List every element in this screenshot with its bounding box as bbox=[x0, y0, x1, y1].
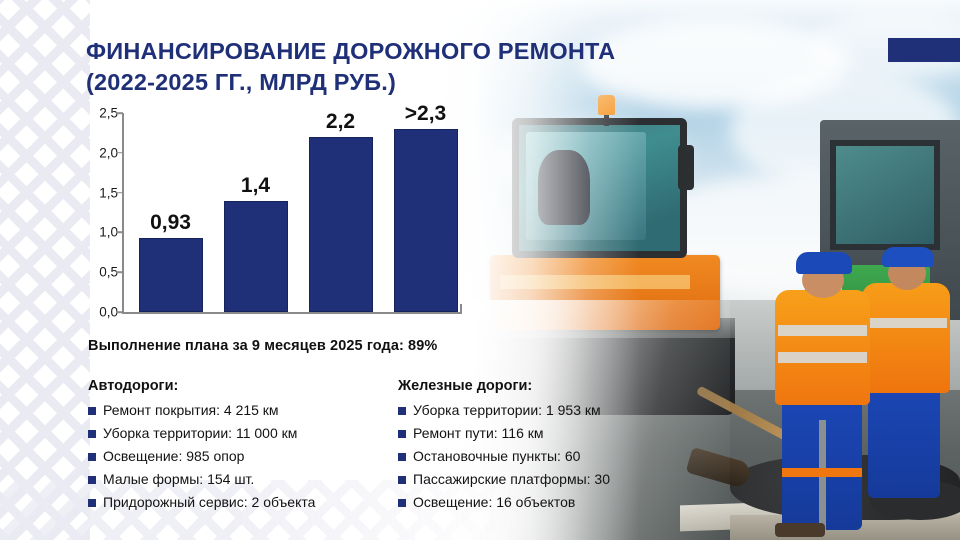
bullet-square-icon bbox=[88, 430, 96, 438]
bar-value-label: 1,4 bbox=[241, 174, 270, 198]
list-item: Придорожный сервис: 2 объекта bbox=[88, 493, 388, 513]
vest-reflective-stripe bbox=[778, 325, 867, 336]
vest-reflective-stripe bbox=[778, 352, 867, 363]
bullet-square-icon bbox=[398, 453, 406, 461]
list-item-label: Ремонт покрытия: 4 215 км bbox=[103, 401, 279, 421]
funding-bar-chart: 0,00,51,01,52,02,5 0,931,42,2>2,3 bbox=[78, 104, 478, 329]
section-roads: Автодороги: Ремонт покрытия: 4 215 кмУбо… bbox=[88, 378, 388, 516]
bar-value-label: 0,93 bbox=[150, 211, 191, 235]
list-item: Ремонт покрытия: 4 215 км bbox=[88, 401, 388, 421]
worker-hivis-vest bbox=[775, 290, 870, 405]
list-item: Остановочные пункты: 60 bbox=[398, 447, 698, 467]
bar bbox=[224, 201, 288, 312]
section-railways-list: Уборка территории: 1 953 кмРемонт пути: … bbox=[398, 401, 698, 513]
list-item: Ремонт пути: 116 км bbox=[398, 424, 698, 444]
worker-boot bbox=[775, 523, 825, 537]
y-axis-labels: 0,00,51,01,52,02,5 bbox=[78, 104, 118, 329]
paver-cabin bbox=[830, 140, 940, 250]
section-railways: Железные дороги: Уборка территории: 1 95… bbox=[398, 378, 698, 516]
list-item: Уборка территории: 11 000 км bbox=[88, 424, 388, 444]
list-item-label: Остановочные пункты: 60 bbox=[413, 447, 580, 467]
list-item-label: Придорожный сервис: 2 объекта bbox=[103, 493, 315, 513]
bar-series: 0,931,42,2>2,3 bbox=[122, 113, 462, 312]
bullet-square-icon bbox=[398, 407, 406, 415]
accent-bar bbox=[888, 38, 960, 62]
roller-mirror bbox=[678, 145, 694, 190]
y-axis-tick bbox=[116, 112, 123, 114]
worker-legs bbox=[868, 388, 940, 498]
section-railways-heading: Железные дороги: bbox=[398, 378, 698, 394]
list-item: Пассажирские платформы: 30 bbox=[398, 470, 698, 490]
section-roads-list: Ремонт покрытия: 4 215 кмУборка территор… bbox=[88, 401, 388, 513]
list-item: Уборка территории: 1 953 км bbox=[398, 401, 698, 421]
list-item-label: Уборка территории: 1 953 км bbox=[413, 401, 601, 421]
y-axis-tick bbox=[116, 232, 123, 234]
bullet-square-icon bbox=[88, 407, 96, 415]
belarusian-ornament-pattern bbox=[0, 0, 90, 540]
list-item: Освещение: 985 опор bbox=[88, 447, 388, 467]
worker-cap bbox=[796, 252, 852, 274]
slide-root: ФИНАНСИРОВАНИЕ ДОРОЖНОГО РЕМОНТА (2022-2… bbox=[0, 0, 960, 540]
y-axis-tick bbox=[116, 152, 123, 154]
list-item: Малые формы: 154 шт. bbox=[88, 470, 388, 490]
section-roads-heading: Автодороги: bbox=[88, 378, 388, 394]
list-item-label: Освещение: 985 опор bbox=[103, 447, 244, 467]
vest-reflective-stripe bbox=[865, 318, 947, 328]
y-axis-tick bbox=[116, 311, 123, 313]
x-axis-line bbox=[122, 312, 462, 314]
bullet-square-icon bbox=[398, 430, 406, 438]
bar-value-label: 2,2 bbox=[326, 110, 355, 134]
page-title: ФИНАНСИРОВАНИЕ ДОРОЖНОГО РЕМОНТА (2022-2… bbox=[86, 36, 686, 98]
bullet-square-icon bbox=[398, 499, 406, 507]
plan-completion-text: Выполнение плана за 9 месяцев 2025 года:… bbox=[88, 338, 437, 354]
bar bbox=[394, 129, 458, 312]
list-item: Освещение: 16 объектов bbox=[398, 493, 698, 513]
bullet-square-icon bbox=[398, 476, 406, 484]
bar bbox=[309, 137, 373, 312]
list-item-label: Пассажирские платформы: 30 bbox=[413, 470, 610, 490]
y-axis-tick bbox=[116, 192, 123, 194]
list-item-label: Уборка территории: 11 000 км bbox=[103, 424, 297, 444]
bar bbox=[139, 238, 203, 312]
worker-cap bbox=[882, 247, 934, 267]
trouser-reflective-stripe bbox=[782, 468, 862, 477]
bullet-square-icon bbox=[88, 453, 96, 461]
worker-hivis-vest bbox=[862, 283, 950, 393]
list-item-label: Ремонт пути: 116 км bbox=[413, 424, 544, 444]
page-title-line-2: (2022-2025 ГГ., МЛРД РУБ.) bbox=[86, 67, 686, 98]
y-axis-tick bbox=[116, 271, 123, 273]
list-item-label: Малые формы: 154 шт. bbox=[103, 470, 254, 490]
page-title-line-1: ФИНАНСИРОВАНИЕ ДОРОЖНОГО РЕМОНТА bbox=[86, 38, 615, 64]
bar-value-label: >2,3 bbox=[405, 102, 446, 126]
list-item-label: Освещение: 16 объектов bbox=[413, 493, 575, 513]
bullet-square-icon bbox=[88, 499, 96, 507]
bullet-square-icon bbox=[88, 476, 96, 484]
